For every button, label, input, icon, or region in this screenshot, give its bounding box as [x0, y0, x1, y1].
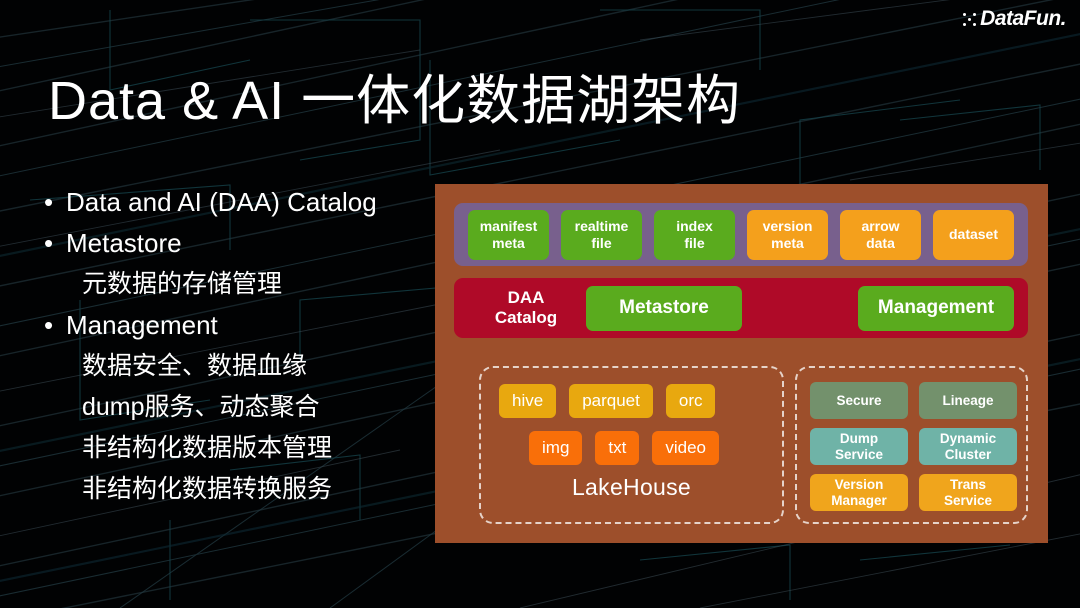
chip-line1: manifest [480, 218, 538, 235]
list-item: dump服务、动态聚合 [44, 387, 434, 428]
chip-realtime-file: realtime file [561, 210, 642, 260]
chip-line2: meta [492, 235, 525, 252]
storage-band: manifest meta realtime file index file v… [454, 203, 1028, 266]
service-line1: Trans [950, 477, 986, 493]
service-line1: Secure [836, 393, 881, 409]
chip-hive: hive [499, 384, 556, 418]
service-dynamic-cluster: Dynamic Cluster [919, 428, 1017, 465]
chip-manifest-meta: manifest meta [468, 210, 549, 260]
list-item: • Data and AI (DAA) Catalog [44, 182, 434, 223]
bullet-marker: • [44, 182, 66, 223]
chip-orc: orc [666, 384, 716, 418]
chip-video: video [652, 431, 719, 465]
list-item: 元数据的存储管理 [44, 264, 434, 305]
list-item: • Management [44, 305, 434, 346]
chip-line2: file [684, 235, 704, 252]
page-title: Data & AI 一体化数据湖架构 [48, 56, 741, 135]
chip-txt: txt [595, 431, 639, 465]
architecture-diagram: manifest meta realtime file index file v… [435, 184, 1048, 543]
lakehouse-caption: LakeHouse [481, 474, 782, 501]
list-item-label: 非结构化数据转换服务 [82, 469, 332, 510]
lakehouse-format-row: hive parquet orc [499, 384, 769, 418]
list-item-label: dump服务、动态聚合 [82, 387, 320, 428]
daa-label-line1: DAA [468, 288, 584, 308]
service-line1: Dynamic [940, 431, 996, 447]
list-item: 非结构化数据转换服务 [44, 469, 434, 510]
service-dump-service: Dump Service [810, 428, 908, 465]
datafun-wordmark: DataFun. [980, 7, 1066, 31]
chip-line2: data [866, 235, 895, 252]
chip-arrow-data: arrow data [840, 210, 921, 260]
bullet-marker: • [44, 305, 66, 346]
service-trans-service: Trans Service [919, 474, 1017, 511]
chip-version-meta: version meta [747, 210, 828, 260]
datafun-logo: DataFun. [963, 7, 1066, 31]
chip-line2: meta [771, 235, 804, 252]
chip-line2: file [591, 235, 611, 252]
service-line2: Cluster [945, 447, 992, 463]
service-line2: Service [835, 447, 883, 463]
bullet-list: • Data and AI (DAA) Catalog • Metastore … [44, 182, 434, 510]
list-item-label: Metastore [66, 223, 182, 264]
chip-img: img [529, 431, 582, 465]
chip-line1: dataset [949, 226, 998, 243]
box-metastore: Metastore [586, 286, 742, 331]
lakehouse-panel: hive parquet orc img txt video LakeHouse [479, 366, 784, 524]
list-item-label: Data and AI (DAA) Catalog [66, 182, 377, 223]
service-line2: Manager [831, 493, 887, 509]
service-secure: Secure [810, 382, 908, 419]
list-item-label: 非结构化数据版本管理 [82, 428, 332, 469]
bullet-marker: • [44, 223, 66, 264]
box-management: Management [858, 286, 1014, 331]
service-lineage: Lineage [919, 382, 1017, 419]
list-item-label: Management [66, 305, 218, 346]
service-version-manager: Version Manager [810, 474, 908, 511]
list-item-label: 元数据的存储管理 [82, 264, 282, 305]
chip-line1: realtime [575, 218, 629, 235]
daa-catalog-band: DAA Catalog Metastore Management [454, 278, 1028, 338]
list-item: 非结构化数据版本管理 [44, 428, 434, 469]
chip-line1: arrow [861, 218, 899, 235]
service-line2: Service [944, 493, 992, 509]
service-line1: Version [835, 477, 884, 493]
service-line1: Lineage [942, 393, 993, 409]
chip-dataset: dataset [933, 210, 1014, 260]
daa-label-line2: Catalog [468, 308, 584, 328]
services-panel: Secure Lineage Dump Service Dynamic Clus… [795, 366, 1028, 524]
chip-parquet: parquet [569, 384, 653, 418]
list-item: • Metastore [44, 223, 434, 264]
service-line1: Dump [840, 431, 878, 447]
services-grid: Secure Lineage Dump Service Dynamic Clus… [810, 382, 1017, 511]
daa-catalog-label: DAA Catalog [468, 288, 584, 328]
list-item: 数据安全、数据血缘 [44, 346, 434, 387]
chip-line1: index [676, 218, 713, 235]
chip-line1: version [763, 218, 813, 235]
list-item-label: 数据安全、数据血缘 [82, 346, 307, 387]
datafun-dot-matrix-icon [963, 13, 976, 26]
lakehouse-media-row: img txt video [529, 431, 773, 465]
chip-index-file: index file [654, 210, 735, 260]
